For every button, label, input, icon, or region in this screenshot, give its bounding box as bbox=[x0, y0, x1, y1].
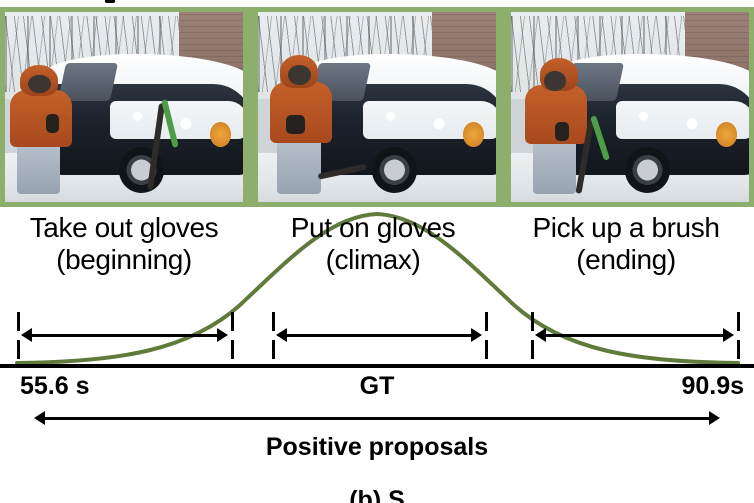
figure-panel: Take out gloves (beginning) Put on glove… bbox=[0, 0, 754, 503]
car-wheel bbox=[625, 147, 670, 192]
proposal-ending-end-tick-upper bbox=[737, 312, 740, 331]
person-legs bbox=[533, 138, 576, 194]
video-frame-climax bbox=[258, 12, 496, 202]
proposal-beginning-arrow-head-right bbox=[217, 328, 228, 342]
positive-proposals-arrow-line bbox=[45, 417, 709, 420]
proposal-ending-start-tick-upper bbox=[531, 312, 534, 331]
video-frame-beginning bbox=[5, 12, 243, 202]
proposal-beginning-end-tick-lower bbox=[231, 340, 234, 359]
proposal-climax-arrow-head-left bbox=[276, 328, 287, 342]
proposal-timeline bbox=[0, 310, 754, 370]
proposal-ending-arrow-line bbox=[542, 334, 726, 337]
caption-climax: Put on gloves (climax) bbox=[248, 212, 498, 276]
person-legs bbox=[277, 137, 320, 195]
gt-label-row: 55.6 s GT 90.9s bbox=[0, 372, 754, 402]
proposal-beginning-arrow-line bbox=[28, 334, 220, 337]
proposal-climax-arrow-head-right bbox=[471, 328, 482, 342]
caption-title: Pick up a brush bbox=[533, 212, 720, 243]
proposal-ending-arrow-head-left bbox=[535, 328, 546, 342]
person-glove bbox=[286, 115, 305, 133]
proposal-climax-start-tick-upper bbox=[272, 312, 275, 331]
timeline-axis bbox=[0, 364, 754, 368]
car-headlight bbox=[210, 122, 231, 147]
car-headlight bbox=[716, 122, 737, 147]
positive-proposals-arrow-head-right bbox=[709, 411, 720, 425]
person-coat bbox=[270, 82, 332, 143]
positive-proposals-label: Positive proposals bbox=[0, 433, 754, 462]
frame-captions: Take out gloves (beginning) Put on glove… bbox=[0, 212, 754, 276]
caption-ending: Pick up a brush (ending) bbox=[498, 212, 754, 276]
end-time-label: 90.9s bbox=[681, 372, 744, 401]
positive-proposals-arrow-head-left bbox=[34, 411, 45, 425]
car-headlight bbox=[463, 122, 484, 147]
person-face bbox=[544, 71, 566, 90]
positive-proposals-span bbox=[0, 410, 754, 428]
proposal-climax-arrow-line bbox=[283, 334, 474, 337]
person-face bbox=[28, 75, 50, 93]
video-frame-ending bbox=[511, 12, 749, 202]
caption-subtitle: (beginning) bbox=[0, 244, 248, 276]
car-wheel bbox=[372, 147, 417, 192]
caption-title: Put on gloves bbox=[291, 212, 455, 243]
cropped-top-mark bbox=[105, 0, 115, 3]
proposal-climax-end-tick-lower bbox=[485, 340, 488, 359]
proposal-climax-start-tick-lower bbox=[272, 340, 275, 359]
proposal-beginning-start-tick-upper bbox=[17, 312, 20, 331]
video-frame-strip bbox=[0, 7, 754, 207]
person-legs bbox=[17, 141, 60, 194]
proposal-climax-end-tick-upper bbox=[485, 312, 488, 331]
caption-subtitle: (climax) bbox=[248, 244, 498, 276]
proposal-beginning-start-tick-lower bbox=[17, 340, 20, 359]
proposal-ending-end-tick-lower bbox=[737, 340, 740, 359]
person-glove bbox=[555, 122, 569, 141]
caption-beginning: Take out gloves (beginning) bbox=[0, 212, 248, 276]
person-figure bbox=[525, 46, 587, 194]
caption-title: Take out gloves bbox=[30, 212, 219, 243]
proposal-beginning-end-tick-upper bbox=[231, 312, 234, 331]
proposal-ending-arrow-head-right bbox=[723, 328, 734, 342]
person-figure bbox=[10, 54, 72, 195]
proposal-ending-start-tick-lower bbox=[531, 340, 534, 359]
proposal-beginning-arrow-head-left bbox=[21, 328, 32, 342]
person-face bbox=[288, 65, 310, 85]
gt-label: GT bbox=[0, 372, 754, 401]
figure-caption-label: (b) S bbox=[0, 486, 754, 503]
person-glove bbox=[46, 114, 60, 132]
caption-subtitle: (ending) bbox=[498, 244, 754, 276]
